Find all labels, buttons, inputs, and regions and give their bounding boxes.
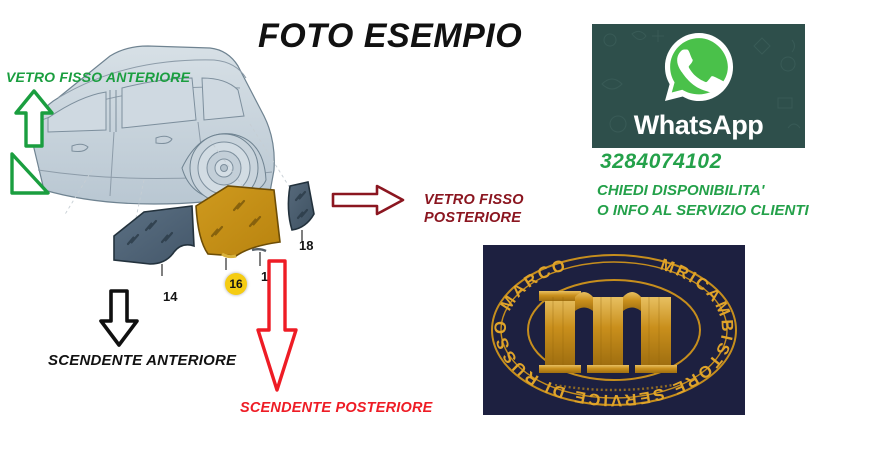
whatsapp-banner: WhatsApp (592, 24, 805, 148)
screenshot-root: FOTO ESEMPIO (0, 0, 873, 468)
whatsapp-phone-number: 3284074102 (600, 150, 722, 174)
right-arrow-icon-dark-red (330, 183, 406, 217)
whatsapp-cta-line-2: O INFO AL SERVIZIO CLIENTI (597, 202, 809, 219)
whatsapp-wordmark: WhatsApp (592, 110, 805, 141)
whatsapp-cta-line-1: CHIEDI DISPONIBILITA' (597, 182, 764, 199)
whatsapp-logo-icon (662, 30, 736, 104)
down-arrow-icon-red (255, 258, 299, 394)
label-scendente-posteriore: SCENDENTE POSTERIORE (240, 400, 433, 416)
shop-logo-monogram (539, 291, 677, 373)
triangle-pointer-icon-green (6, 150, 52, 198)
part-14-shape (114, 206, 194, 276)
down-arrow-icon-black (98, 288, 140, 348)
label-vetro-fisso-anteriore: VETRO FISSO ANTERIORE (6, 69, 190, 85)
up-arrow-icon-green (12, 88, 56, 150)
label-scendente-anteriore: SCENDENTE ANTERIORE (48, 352, 236, 369)
part-18-shape (288, 182, 314, 242)
callout-badge-16: 16 (225, 273, 247, 295)
label-vetro-fisso-posteriore: VETRO FISSO POSTERIORE (424, 191, 554, 227)
label-line-2: POSTERIORE (424, 209, 554, 227)
callout-number-14: 14 (163, 289, 177, 304)
shop-logo-banner: MRICAMBISTORE SERVICE DI RUSSO MARCO (483, 245, 745, 415)
shop-logo-graphic: MRICAMBISTORE SERVICE DI RUSSO MARCO (483, 245, 745, 415)
callout-number-18: 18 (299, 238, 313, 253)
label-line-1: VETRO FISSO (424, 191, 554, 209)
